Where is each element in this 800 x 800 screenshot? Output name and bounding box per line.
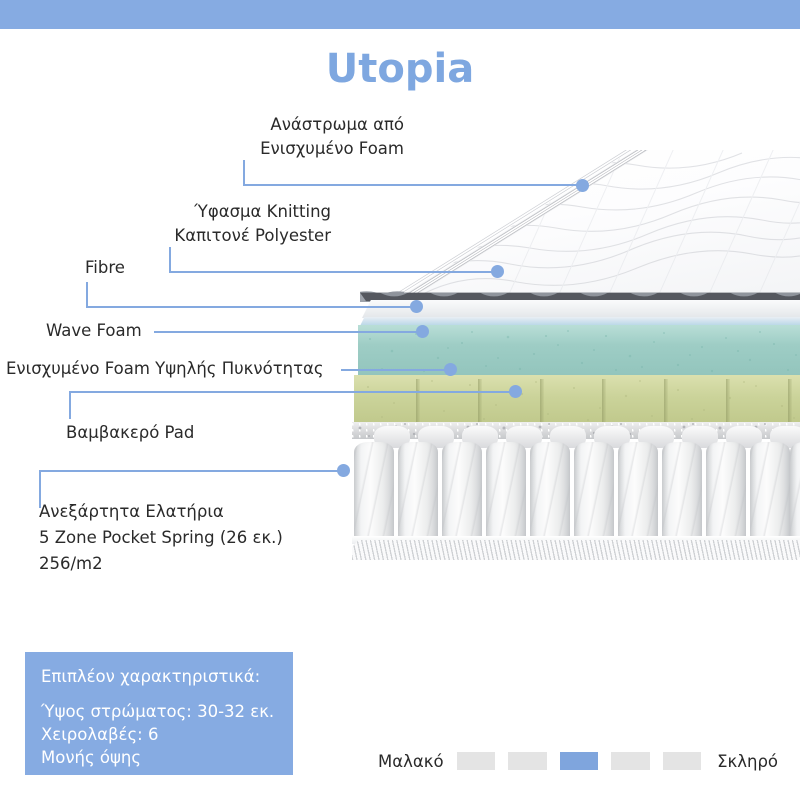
product-diagram: Utopia	[0, 0, 800, 800]
extra-features-row-handles: Χειρολαβές: 6	[41, 723, 293, 746]
cover-ribbed-edge	[352, 150, 652, 300]
extra-features-title: Επιπλέον χαρακτηριστικά:	[41, 666, 293, 688]
foam-groove	[726, 379, 730, 423]
fibre-layer	[362, 300, 800, 318]
foam-groove	[416, 379, 420, 423]
extra-features-row-height: Ύψος στρώματος: 30-32 εκ.	[41, 700, 293, 723]
leader-hd-foam-horizontal	[341, 369, 451, 371]
callout-knitting-line1: Ύφασμα Knitting	[0, 200, 331, 224]
leader-fibre-vertical	[86, 282, 88, 308]
page-title: Utopia	[0, 46, 800, 92]
leader-hd-foam-dot	[444, 363, 457, 376]
base-ribbed-edge	[352, 540, 800, 560]
leader-fibre-dot	[410, 300, 423, 313]
callout-cotton-pad-label: Βαμβακερό Pad	[66, 421, 194, 445]
leader-topper-dot	[576, 179, 589, 192]
firmness-segment-1[interactable]	[457, 752, 496, 770]
high-density-foam-layer	[354, 375, 800, 423]
foam-groove	[788, 379, 792, 423]
callout-topper-line2: Ενισχυμένο Foam	[0, 137, 404, 161]
leader-knitting-horizontal	[169, 271, 498, 273]
extra-features-box: Επιπλέον χαρακτηριστικά: Ύψος στρώματος:…	[25, 652, 293, 775]
leader-cotton-vertical	[69, 393, 71, 419]
callout-hd-foam-label: Ενισχυμένο Foam Υψηλής Πυκνότητας	[6, 357, 324, 381]
leader-topper-horizontal	[243, 184, 583, 186]
callout-spring-label: Ανεξάρτητα Ελατήρια 5 Zone Pocket Spring…	[39, 499, 283, 577]
callout-spring-line3: 256/m2	[39, 551, 283, 577]
firmness-segment-4[interactable]	[611, 752, 650, 770]
firmness-segment-2[interactable]	[508, 752, 547, 770]
leader-wave-foam-horizontal	[154, 331, 422, 333]
foam-groove	[602, 379, 606, 423]
mattress-illustration	[352, 150, 800, 570]
leader-knitting-dot	[491, 265, 504, 278]
extra-features-row-sides: Μονής όψης	[41, 746, 293, 769]
leader-spring-horizontal	[39, 470, 347, 472]
callout-wave-foam-label: Wave Foam	[46, 319, 142, 343]
leader-fibre-horizontal	[86, 306, 416, 308]
callout-spring-line1: Ανεξάρτητα Ελατήρια	[39, 499, 283, 525]
callout-knitting-label: Ύφασμα Knitting Καπιτονέ Polyester	[0, 200, 331, 248]
firmness-segment-5[interactable]	[663, 752, 702, 770]
callout-spring-line2: 5 Zone Pocket Spring (26 εκ.)	[39, 525, 283, 551]
leader-cotton-horizontal	[69, 391, 521, 393]
callout-topper-label: Ανάστρωμα από Ενισχυμένο Foam	[0, 113, 404, 161]
callout-knitting-line2: Καπιτονέ Polyester	[0, 224, 331, 248]
foam-groove	[478, 379, 482, 423]
leader-spring-dot	[337, 464, 350, 477]
leader-cotton-dot	[509, 385, 522, 398]
callout-fibre-label: Fibre	[85, 256, 125, 280]
hd-foam-texture	[354, 375, 800, 423]
leader-wave-foam-dot	[416, 325, 429, 338]
pocket-spring-row	[352, 434, 800, 550]
firmness-scale: Μαλακό Σκληρό	[378, 746, 778, 776]
top-accent-bar	[0, 0, 800, 29]
callout-topper-line1: Ανάστρωμα από	[0, 113, 404, 137]
foam-groove	[540, 379, 544, 423]
leader-knitting-vertical	[169, 247, 171, 273]
firmness-soft-label: Μαλακό	[378, 752, 444, 771]
foam-groove	[664, 379, 668, 423]
firmness-hard-label: Σκληρό	[717, 752, 778, 771]
firmness-segment-3-selected[interactable]	[560, 752, 599, 770]
leader-topper-vertical	[243, 160, 245, 186]
